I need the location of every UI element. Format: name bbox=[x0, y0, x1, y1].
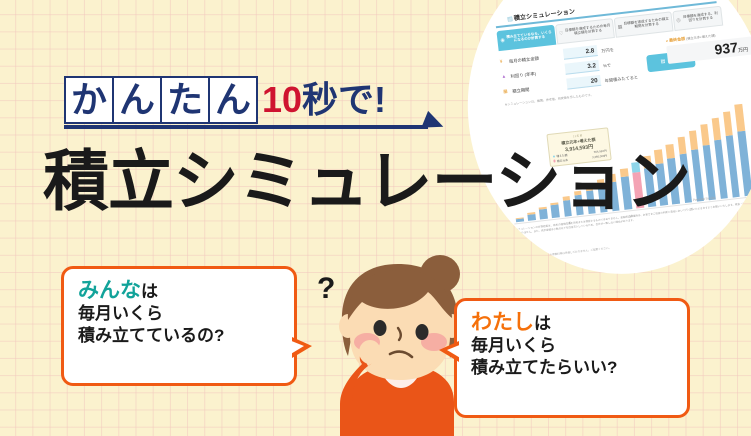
result-unit: 万円 bbox=[738, 47, 749, 54]
piggy-icon: ♡ bbox=[559, 31, 564, 38]
poster-canvas: ▤積立シミュレーション ◉ 積み立てているなら、いくらになるのか計算する ♡ 目… bbox=[0, 0, 751, 436]
result-amount: 937 bbox=[714, 39, 739, 58]
bubble-right-line1: わたしは bbox=[471, 311, 675, 335]
tab-active-arrow bbox=[522, 48, 528, 51]
bar-segment-principal bbox=[702, 144, 716, 200]
bubble-left-line2: 毎月いくら bbox=[78, 303, 282, 325]
bubble-right-line3: 積み立てたらいい? bbox=[471, 357, 675, 379]
bar-segment-gain bbox=[712, 117, 722, 140]
bar-segment-gain bbox=[734, 104, 744, 132]
headline-underline bbox=[64, 125, 428, 129]
headline-char-1: か bbox=[64, 76, 114, 124]
yield-input[interactable]: 3.2 bbox=[565, 60, 600, 75]
headline-kantan: かんたん10秒で! bbox=[64, 76, 386, 130]
bar-segment-gain bbox=[723, 111, 733, 136]
coins-icon: ◉ bbox=[500, 37, 505, 44]
headline-char-3: た bbox=[160, 76, 210, 124]
calendar-icon: ▦ bbox=[503, 89, 508, 95]
percent-icon: ◎ bbox=[676, 17, 681, 24]
bubble-left-line3: 積み立てているの? bbox=[78, 325, 282, 347]
bar-segment-gain bbox=[689, 131, 699, 150]
tab-accumulate-result[interactable]: ◉ 積み立てているなら、いくらになるのか計算する bbox=[496, 25, 556, 51]
bar-segment-principal bbox=[737, 131, 751, 197]
yen-icon: ¥ bbox=[500, 59, 503, 64]
headline-arrow-icon bbox=[421, 111, 446, 135]
headline-seconds: 秒で! bbox=[302, 79, 386, 120]
calc-icon: ▤ bbox=[660, 58, 666, 65]
bar-segment-principal bbox=[714, 140, 728, 199]
period-input[interactable]: 20 bbox=[566, 75, 601, 90]
bubble-left-highlight: みんな bbox=[78, 279, 141, 302]
monthly-amount-input[interactable]: 2.8 bbox=[563, 45, 598, 60]
tab-yield[interactable]: ◎ 目標額を達成する、利回りを計算する bbox=[672, 6, 723, 31]
bubble-right-particle: は bbox=[534, 314, 551, 333]
bubble-left-tail bbox=[292, 337, 312, 358]
speech-bubble-left: みんなは 毎月いくら 積み立てているの? bbox=[61, 266, 297, 386]
headline-number: 10 bbox=[262, 79, 302, 120]
tab-monthly-amount[interactable]: ♡ 目標額を達成するための毎月積立額を計算する bbox=[555, 18, 615, 44]
document-icon: ▤ bbox=[507, 16, 513, 23]
tab-period[interactable]: ▦ 目標額を達成するための積立期間を計算する bbox=[614, 11, 674, 37]
page-title: 積立シミュレーション bbox=[43, 148, 690, 214]
bubble-right-highlight: わたし bbox=[471, 311, 534, 334]
bar-segment-principal bbox=[691, 149, 704, 202]
bubble-left-particle: は bbox=[141, 282, 158, 301]
bar-segment-gain bbox=[700, 124, 710, 145]
headline-suffix: 10秒で! bbox=[262, 76, 386, 124]
result-block: ◕ 最終金額 (積立元本+増えた額) 937万円 bbox=[665, 28, 751, 64]
coin-icon: ◕ bbox=[665, 38, 668, 43]
chart-icon: ▲ bbox=[501, 74, 506, 79]
headline-char-4: ん bbox=[208, 76, 258, 124]
speech-bubble-right: わたしは 毎月いくら 積み立てたらいい? bbox=[454, 298, 690, 418]
calendar-icon: ▦ bbox=[617, 24, 622, 31]
panel-lastline: ※税金や手数料等は考慮しておりません。ご留意ください。 bbox=[542, 246, 611, 258]
bubble-right-line2: 毎月いくら bbox=[471, 335, 675, 357]
bubble-right-tail bbox=[439, 341, 459, 362]
bubble-left-line1: みんなは bbox=[78, 279, 282, 303]
headline-char-2: ん bbox=[112, 76, 162, 124]
